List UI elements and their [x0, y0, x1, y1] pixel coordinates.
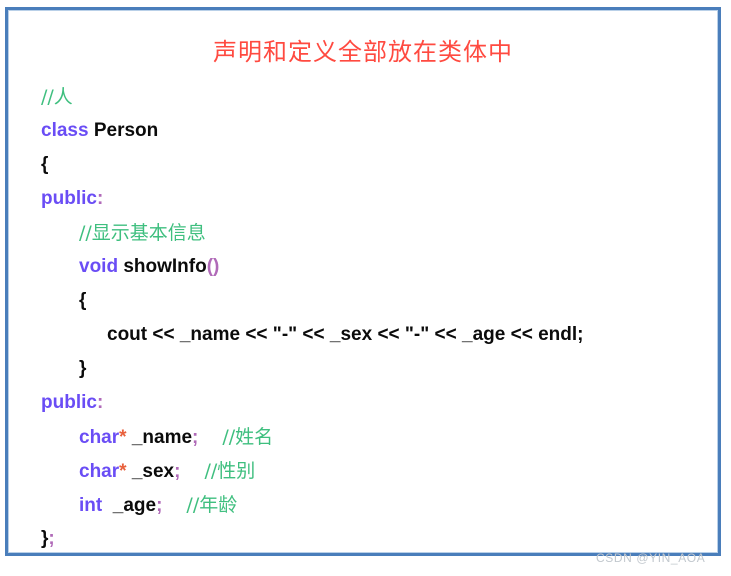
code-line: public: — [41, 386, 708, 420]
code-token-identifier: showInfo — [123, 256, 206, 277]
code-token-star: * — [119, 461, 126, 482]
code-token-keyword: public — [41, 392, 97, 413]
code-inline-comment: //年龄 — [186, 488, 237, 522]
code-line: { — [41, 284, 708, 318]
code-line: cout << _name << "-" << _sex << "-" << _… — [41, 318, 708, 352]
code-token-comment: //人 — [41, 86, 73, 108]
code-line: //人 — [41, 80, 708, 114]
code-line: void showInfo() — [41, 250, 708, 284]
watermark-label: CSDN @YIN_AOA — [596, 551, 705, 565]
code-line: class Person — [41, 114, 708, 148]
code-token-punctuation: ; — [48, 528, 54, 549]
code-token-identifier: _sex — [132, 461, 174, 482]
code-line: public: — [41, 182, 708, 216]
code-token-punctuation: ; — [192, 427, 198, 448]
code-token-keyword: char — [79, 427, 119, 448]
code-token-identifier: { — [41, 154, 48, 175]
code-line: int _age;//年龄 — [41, 488, 708, 522]
code-snippet-frame: 声明和定义全部放在类体中 //人class Person{public://显示… — [5, 7, 721, 556]
code-token-identifier: Person — [94, 120, 158, 141]
code-line: //显示基本信息 — [41, 216, 708, 250]
code-token-punctuation: ; — [156, 495, 162, 516]
code-token-keyword: int — [79, 495, 102, 516]
code-token-star: * — [119, 427, 126, 448]
code-token-punctuation: ; — [174, 461, 180, 482]
code-line: char* _sex;//性别 — [41, 454, 708, 488]
code-token-keyword: public — [41, 188, 97, 209]
code-token-identifier: _age — [113, 495, 156, 516]
code-line: { — [41, 148, 708, 182]
code-inline-comment: //性别 — [204, 454, 255, 488]
code-token-keyword: char — [79, 461, 119, 482]
code-token-punctuation: () — [207, 256, 220, 277]
code-token-keyword: void — [79, 256, 118, 277]
code-token-keyword: class — [41, 120, 89, 141]
code-token-punctuation: : — [97, 188, 103, 209]
code-line: } — [41, 352, 708, 386]
code-token-identifier: _name — [132, 427, 192, 448]
code-line: char* _name;//姓名 — [41, 420, 708, 454]
code-inline-comment: //姓名 — [222, 420, 273, 454]
code-token-plain — [102, 495, 113, 516]
code-token-plain: cout << _name << "-" << _sex << "-" << _… — [107, 324, 583, 345]
code-token-comment: //显示基本信息 — [79, 222, 206, 244]
code-token-punctuation: : — [97, 392, 103, 413]
code-block: //人class Person{public://显示基本信息void show… — [41, 80, 708, 556]
code-token-identifier: } — [79, 358, 86, 379]
page-title: 声明和定义全部放在类体中 — [8, 32, 718, 67]
code-token-identifier: { — [79, 290, 86, 311]
